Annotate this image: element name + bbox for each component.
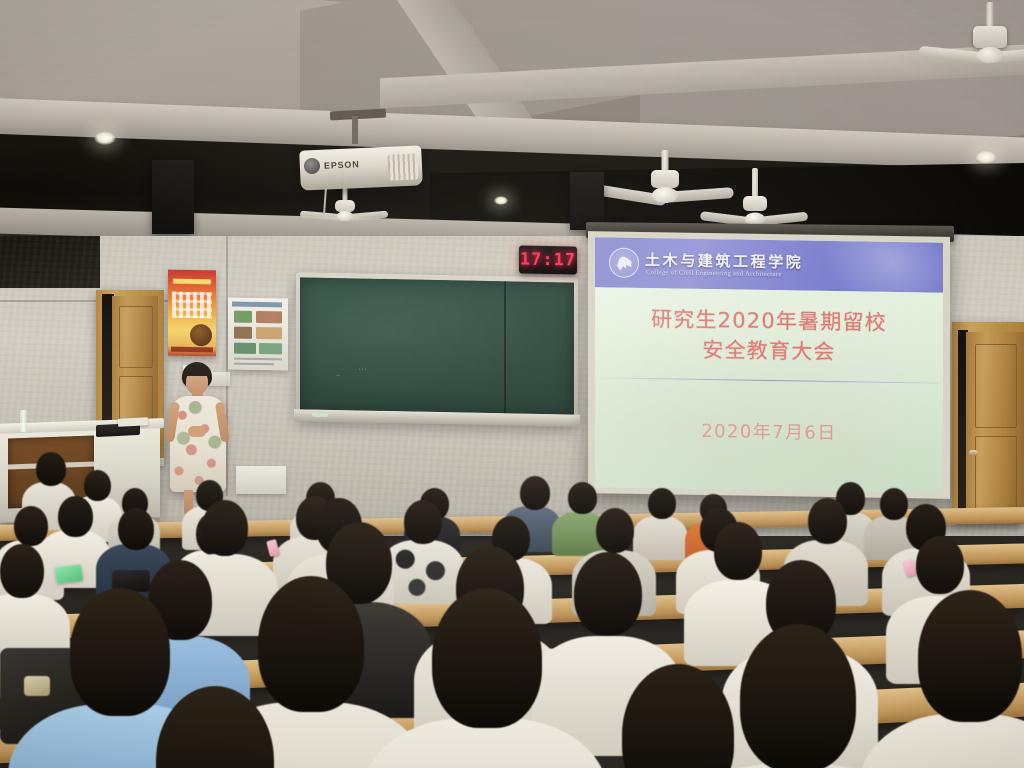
ceiling-projector: EPSON [300,140,422,192]
chalk-piece[interactable] [312,413,328,417]
person-head [0,544,44,598]
fan-blades [915,42,1024,68]
digital-clock: 17:17 [519,245,577,274]
person-head [808,498,847,544]
fan-hub [337,211,353,221]
person-head [714,522,762,580]
person-torso [633,516,687,560]
person-head [520,476,550,510]
slide-header-sheen [796,237,943,292]
person-head [258,576,364,712]
person-head [36,452,66,486]
fan-rod [662,150,669,172]
door-panel [975,436,1017,514]
notice-text-line [234,363,274,366]
ceiling-fan-left [300,188,390,228]
person-head [880,488,908,520]
notice-thumb [234,311,252,323]
college-name-english: College of Civil Engineering and Archite… [646,269,782,278]
digital-clock-display: 17:17 [519,245,577,274]
downlight [975,150,997,164]
person-head [202,500,248,556]
poster-footer-band [171,347,213,353]
projector-mount-arm [352,116,358,144]
person-head [916,536,964,594]
presenter-fringe [183,365,211,376]
poster-calendar-grid [172,292,212,319]
smartphone[interactable] [266,539,280,557]
person-head [58,496,93,537]
person-head [568,482,597,514]
wall-poster-red [168,270,216,357]
fan-hub [652,187,678,203]
person-head [648,488,676,519]
blackboard-chalk-marks: … [358,361,367,371]
projector-vent [387,153,418,180]
person-head [596,508,634,553]
slide-body: 研究生2020年暑期留校 安全教育大会 2020年7月6日 [595,287,943,492]
person-head [404,500,442,544]
blackboard-surface [300,277,574,414]
person-head [84,470,111,501]
fan-rod [752,168,758,198]
notice-text-line [234,358,282,361]
slide-title-line-2: 安全教育大会 [595,333,943,368]
fan-hub [977,47,1003,63]
fan-blades [297,208,393,224]
slide-header-band: 土木与建筑工程学院 College of Civil Engineering a… [595,237,943,292]
notice-thumb [256,327,282,339]
water-bottle [20,410,27,432]
projector-lens-icon [304,158,320,174]
blackboard: … ~ [296,272,578,425]
ceiling-fan-right [700,168,810,228]
wall-speaker-left [152,160,194,234]
lecture-hall-photo: EPSON … ~ [0,0,1024,768]
notice-thumb [259,343,282,354]
lectern-papers [118,417,148,427]
slide-title: 研究生2020年暑期留校 安全教育大会 [595,303,943,368]
person-head [918,590,1022,722]
notice-thumb [234,327,252,339]
person-head [70,588,170,716]
wall-upper-dark-panel [0,236,100,288]
presenter-hands [188,426,206,437]
wall-outlet-panel [236,466,286,494]
green-notebook[interactable] [55,564,83,583]
projection-screen-surface: 土木与建筑工程学院 College of Civil Engineering a… [595,237,943,492]
slide-date: 2020年7月6日 [595,415,943,446]
person-head [432,588,542,728]
notice-thumb [234,343,256,354]
blackboard-chalk-marks: ~ [336,371,341,381]
poster-title-band [173,279,211,285]
ceiling-fan-top-right [930,2,1024,72]
notice-thumb [256,311,282,323]
poster-image [190,324,212,346]
person-head [740,624,856,768]
door-panel [975,344,1017,428]
door-panel [119,306,153,368]
notice-board-header [232,302,282,308]
projection-screen: 土木与建筑工程学院 College of Civil Engineering a… [588,231,950,499]
university-logo-icon [609,247,639,277]
blackboard-divider [504,281,506,413]
downlight [494,196,508,205]
door-knob-icon[interactable] [969,450,978,456]
person-head [574,552,642,636]
wall-notice-board [228,297,288,370]
projector-brand-label: EPSON [324,159,360,171]
door-leaf-right[interactable] [966,332,1024,522]
person-head [118,508,154,550]
downlight [94,131,116,145]
bag-buckle [24,676,50,696]
fan-rod [987,2,994,28]
